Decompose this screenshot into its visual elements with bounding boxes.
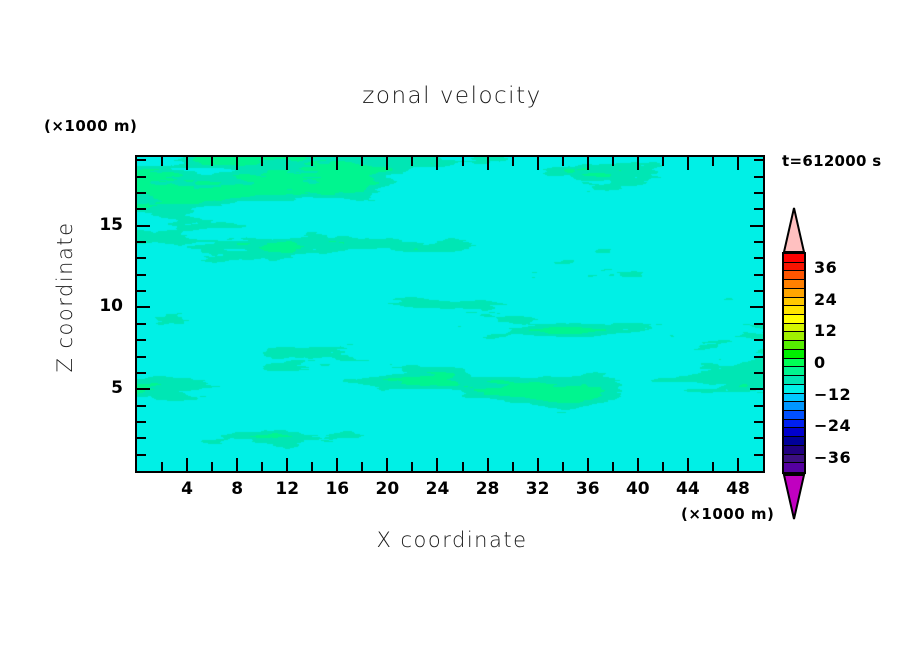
x-tick-top	[186, 157, 188, 170]
colorbar-extend-bottom-arrow	[782, 474, 806, 520]
y-axis-title: Z coordinate	[53, 197, 77, 397]
x-tick-bottom	[261, 462, 263, 471]
colorbar[interactable]	[782, 252, 806, 474]
x-tick-top	[487, 157, 489, 170]
x-tick-bottom	[436, 458, 438, 471]
x-tick-top	[336, 157, 338, 170]
colorbar-band	[784, 350, 804, 359]
y-tick-left	[137, 159, 146, 161]
x-tick-label: 28	[468, 479, 508, 499]
x-axis-title: X coordinate	[0, 528, 904, 552]
x-tick-bottom	[211, 462, 213, 471]
x-tick-top	[236, 157, 238, 170]
y-tick-right	[754, 241, 763, 243]
contour-plot-area[interactable]	[135, 155, 765, 473]
colorbar-band	[784, 359, 804, 368]
colorbar-band	[784, 463, 804, 472]
y-tick-right	[754, 437, 763, 439]
y-tick-right	[754, 339, 763, 341]
colorbar-band	[784, 437, 804, 446]
contour-field	[137, 157, 763, 471]
colorbar-band	[784, 367, 804, 376]
y-tick-left	[137, 437, 146, 439]
y-tick-label: 10	[83, 296, 123, 316]
y-tick-left	[137, 290, 146, 292]
y-tick-right	[754, 159, 763, 161]
x-tick-top	[211, 157, 213, 166]
x-tick-bottom	[336, 458, 338, 471]
colorbar-band	[784, 446, 804, 455]
y-tick-label: 5	[83, 378, 123, 398]
y-axis-units-label: (×1000 m)	[44, 117, 137, 135]
x-tick-bottom	[537, 458, 539, 471]
x-tick-label: 8	[217, 479, 257, 499]
colorbar-band	[784, 263, 804, 272]
x-tick-bottom	[462, 462, 464, 471]
colorbar-tick-label: −24	[814, 416, 851, 435]
y-tick-right	[754, 208, 763, 210]
y-tick-left	[137, 306, 150, 308]
y-tick-left	[137, 356, 146, 358]
colorbar-band	[784, 402, 804, 411]
colorbar-band	[784, 332, 804, 341]
colorbar-extend-top-arrow	[782, 207, 806, 253]
y-tick-left	[137, 241, 146, 243]
x-tick-label: 24	[417, 479, 457, 499]
x-tick-top	[537, 157, 539, 170]
x-tick-bottom	[161, 462, 163, 471]
x-tick-label: 32	[518, 479, 558, 499]
colorbar-band	[784, 298, 804, 307]
y-tick-left	[137, 405, 146, 407]
x-tick-label: 4	[167, 479, 207, 499]
x-tick-bottom	[612, 462, 614, 471]
y-tick-right	[754, 176, 763, 178]
x-tick-top	[411, 157, 413, 166]
y-tick-left	[137, 372, 146, 374]
x-tick-bottom	[712, 462, 714, 471]
x-tick-bottom	[512, 462, 514, 471]
y-tick-left	[137, 421, 146, 423]
y-tick-right	[750, 306, 763, 308]
x-tick-bottom	[361, 462, 363, 471]
y-tick-right	[754, 257, 763, 259]
y-tick-right	[754, 274, 763, 276]
x-tick-top	[361, 157, 363, 166]
y-tick-right	[754, 454, 763, 456]
colorbar-band	[784, 411, 804, 420]
x-tick-bottom	[311, 462, 313, 471]
x-tick-bottom	[662, 462, 664, 471]
colorbar-tick-label: −36	[814, 448, 851, 467]
y-tick-label: 15	[83, 215, 123, 235]
colorbar-tick-label: 24	[814, 290, 837, 309]
time-annotation: t=612000 s	[782, 152, 882, 170]
x-tick-bottom	[236, 458, 238, 471]
x-tick-top	[386, 157, 388, 170]
y-tick-right	[754, 372, 763, 374]
colorbar-band	[784, 315, 804, 324]
x-tick-top	[462, 157, 464, 166]
colorbar-tick-label: 36	[814, 258, 837, 277]
x-tick-label: 12	[267, 479, 307, 499]
x-tick-top	[436, 157, 438, 170]
colorbar-tick-label: −12	[814, 385, 851, 404]
y-tick-left	[137, 208, 146, 210]
colorbar-band	[784, 341, 804, 350]
page-title: zonal velocity	[0, 83, 904, 109]
y-tick-left	[137, 192, 146, 194]
x-axis-units-label: (×1000 m)	[681, 505, 774, 523]
x-tick-bottom	[386, 458, 388, 471]
y-tick-left	[137, 176, 146, 178]
x-tick-bottom	[687, 458, 689, 471]
x-tick-top	[261, 157, 263, 166]
x-tick-top	[161, 157, 163, 166]
x-tick-top	[587, 157, 589, 170]
x-tick-label: 16	[317, 479, 357, 499]
y-tick-right	[754, 405, 763, 407]
y-tick-right	[754, 192, 763, 194]
x-tick-top	[637, 157, 639, 170]
y-tick-left	[137, 388, 150, 390]
x-tick-top	[562, 157, 564, 166]
x-tick-top	[311, 157, 313, 166]
colorbar-band	[784, 254, 804, 263]
colorbar-tick-label: 0	[814, 353, 826, 372]
x-tick-top	[687, 157, 689, 170]
x-tick-label: 40	[618, 479, 658, 499]
colorbar-band	[784, 428, 804, 437]
x-tick-label: 44	[668, 479, 708, 499]
x-tick-top	[712, 157, 714, 166]
y-tick-right	[750, 225, 763, 227]
colorbar-band	[784, 271, 804, 280]
colorbar-band	[784, 324, 804, 333]
colorbar-band	[784, 455, 804, 464]
y-tick-left	[137, 257, 146, 259]
x-tick-bottom	[562, 462, 564, 471]
colorbar-band	[784, 420, 804, 429]
x-tick-top	[512, 157, 514, 166]
colorbar-band	[784, 280, 804, 289]
y-tick-right	[754, 356, 763, 358]
y-tick-left	[137, 274, 146, 276]
colorbar-band	[784, 394, 804, 403]
y-tick-left	[137, 454, 146, 456]
colorbar-band	[784, 289, 804, 298]
x-tick-bottom	[286, 458, 288, 471]
x-tick-top	[612, 157, 614, 166]
x-tick-top	[737, 157, 739, 170]
x-tick-bottom	[411, 462, 413, 471]
x-tick-label: 20	[367, 479, 407, 499]
y-tick-left	[137, 323, 146, 325]
y-tick-right	[754, 290, 763, 292]
x-tick-bottom	[587, 458, 589, 471]
colorbar-band	[784, 385, 804, 394]
colorbar-band	[784, 376, 804, 385]
colorbar-band	[784, 306, 804, 315]
x-tick-bottom	[737, 458, 739, 471]
y-tick-right	[754, 421, 763, 423]
x-tick-top	[286, 157, 288, 170]
x-tick-bottom	[186, 458, 188, 471]
x-tick-bottom	[487, 458, 489, 471]
y-tick-left	[137, 225, 150, 227]
x-tick-top	[662, 157, 664, 166]
y-tick-right	[754, 323, 763, 325]
x-tick-bottom	[637, 458, 639, 471]
y-tick-right	[750, 388, 763, 390]
y-tick-left	[137, 339, 146, 341]
x-tick-label: 48	[718, 479, 758, 499]
x-tick-label: 36	[568, 479, 608, 499]
colorbar-tick-label: 12	[814, 321, 837, 340]
